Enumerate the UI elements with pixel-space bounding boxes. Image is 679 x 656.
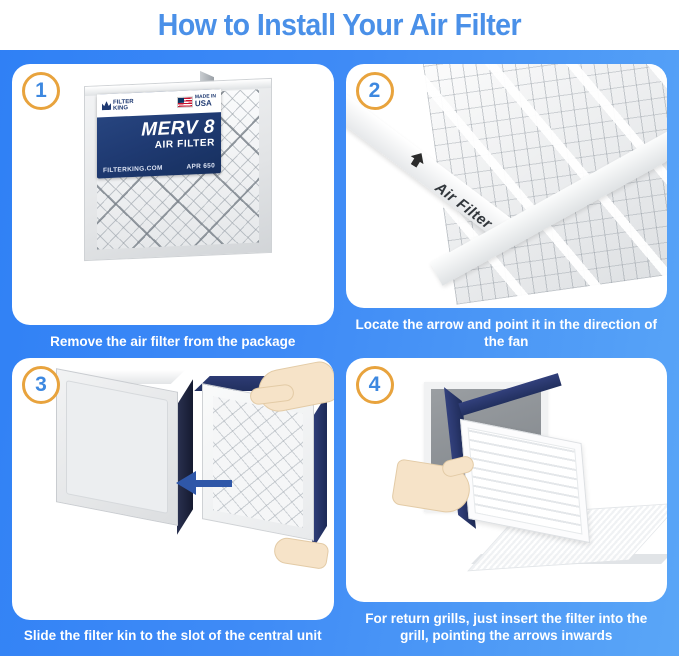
step-3-number-badge: 3 <box>22 366 60 404</box>
step-2-number-badge: 2 <box>356 72 394 110</box>
label-footer-strip: FILTERKING.COM APR 650 <box>97 162 221 174</box>
direction-arrow-head <box>176 471 196 495</box>
label-header-strip: FILTER KING MADE IN USA <box>97 89 221 117</box>
step-1-caption: Remove the air filter from the package <box>12 325 334 352</box>
made-in-usa-text: MADE IN USA <box>195 94 216 108</box>
step-2-caption: Locate the arrow and point it in the dir… <box>346 308 668 352</box>
step-2-card: 2 Air Filter <box>346 64 668 308</box>
brand-line-1: FILTER <box>113 98 134 105</box>
filter-body: FILTER KING MADE IN USA <box>84 78 272 261</box>
step-1-number-badge: 1 <box>22 72 60 110</box>
step-4-number-badge: 4 <box>356 366 394 404</box>
filter-king-logo: FILTER KING <box>102 98 134 111</box>
filter-mesh-texture <box>213 396 303 527</box>
insert-filter-into-return-grill-illustration <box>346 358 668 602</box>
infographic-page: How to Install Your Air Filter 1 <box>0 0 679 656</box>
step-3-caption: Slide the filter kin to the slot of the … <box>12 620 334 646</box>
central-unit-housing <box>56 368 178 526</box>
brand-line-2: KING <box>113 104 134 111</box>
step-4-caption: For return grills, just insert the filte… <box>346 602 668 646</box>
slide-filter-into-unit-illustration <box>12 358 334 620</box>
apr-rating: APR 650 <box>187 162 215 170</box>
corner-photo-wrap <box>346 64 668 308</box>
usa-flag-icon <box>177 96 193 108</box>
website-url: FILTERKING.COM <box>103 165 163 175</box>
direction-arrow-shaft <box>194 480 232 487</box>
unit-dark-side <box>177 379 193 535</box>
step-1-card: 1 FILTER <box>12 64 334 325</box>
crown-icon <box>102 101 111 110</box>
grill-louvers <box>467 427 582 534</box>
page-title: How to Install Your Air Filter <box>151 8 529 42</box>
step-3: 3 <box>12 358 334 646</box>
product-label: FILTER KING MADE IN USA <box>97 89 221 178</box>
filter-blue-side <box>312 394 327 550</box>
filter-corner-arrow-closeup: Air Filter <box>346 64 668 308</box>
step-3-card: 3 <box>12 358 334 620</box>
step-2: 2 Air Filter Locate the arrow and point … <box>346 64 668 352</box>
brand-text: FILTER KING <box>113 98 134 111</box>
step-4-card: 4 <box>346 358 668 602</box>
unit-slot-recess <box>66 380 168 514</box>
steps-grid: 1 FILTER <box>0 50 679 656</box>
header-bar: How to Install Your Air Filter <box>0 0 679 50</box>
second-hand <box>272 536 329 570</box>
return-grill-door <box>459 419 589 543</box>
step-4: 4 For return grills, just insert <box>346 358 668 646</box>
step-1: 1 FILTER <box>12 64 334 352</box>
made-in-usa-badge: MADE IN USA <box>177 94 216 109</box>
air-filter-product-photo: FILTER KING MADE IN USA <box>12 64 334 325</box>
country-label: USA <box>195 100 216 109</box>
